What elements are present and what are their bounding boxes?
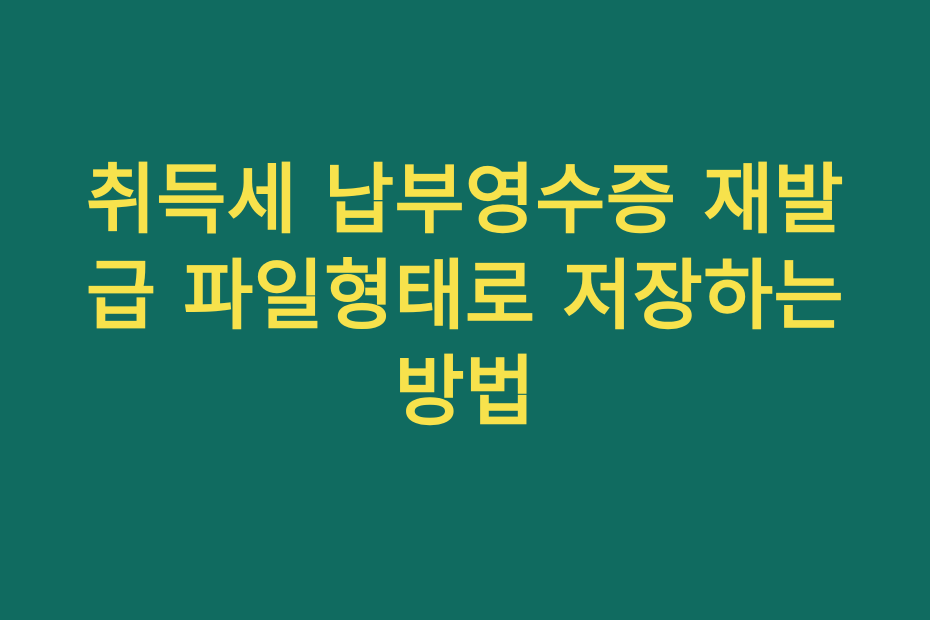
title-line-2: 급 파일형태로 저장하는 (53, 248, 877, 344)
title-line-1: 취득세 납부영수증 재발 (53, 152, 877, 248)
title-card: 취득세 납부영수증 재발 급 파일형태로 저장하는 방법 (0, 0, 930, 620)
title-line-3: 방법 (53, 344, 877, 440)
page-title: 취득세 납부영수증 재발 급 파일형태로 저장하는 방법 (35, 152, 895, 440)
